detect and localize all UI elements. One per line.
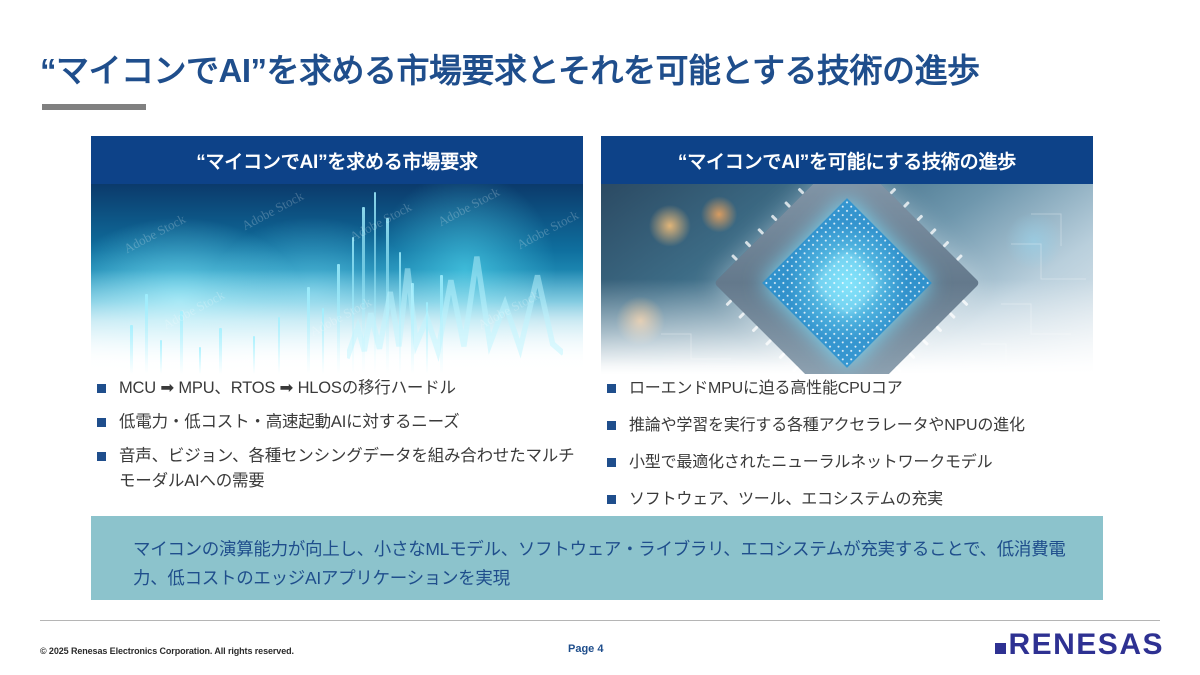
bullet-square-icon xyxy=(607,458,616,467)
bullet-square-icon xyxy=(607,384,616,393)
copyright-text: © 2025 Renesas Electronics Corporation. … xyxy=(40,646,294,656)
list-item-label: 低電力・低コスト・高速起動AIに対するニーズ xyxy=(119,410,459,435)
page-number: Page 4 xyxy=(568,643,603,655)
list-item-label: MCU ➡ MPU、RTOS ➡ HLOSの移行ハードル xyxy=(119,376,456,401)
bullet-list-tech-progress: ローエンドMPUに迫る高性能CPUコア 推論や学習を実行する各種アクセラレータや… xyxy=(607,376,1107,524)
list-item-label: 推論や学習を実行する各種アクセラレータやNPUの進化 xyxy=(629,413,1025,438)
bullet-square-icon xyxy=(607,495,616,504)
footer-divider xyxy=(40,620,1160,621)
summary-text: マイコンの演算能力が向上し、小さなMLモデル、ソフトウェア・ライブラリ、エコシス… xyxy=(133,535,1083,593)
panel-header-market-demand: “マイコンでAI”を求める市場要求 xyxy=(91,136,583,184)
list-item: 推論や学習を実行する各種アクセラレータやNPUの進化 xyxy=(607,413,1107,438)
abstract-data-waveform-image: Adobe Stock Adobe Stock Adobe Stock Adob… xyxy=(91,184,583,374)
panel-tech-progress: “マイコンでAI”を可能にする技術の進歩 xyxy=(601,136,1093,374)
microcontroller-chip-circuit-board-image xyxy=(601,184,1093,374)
list-item-label: 音声、ビジョン、各種センシングデータを組み合わせたマルチモーダルAIへの需要 xyxy=(119,444,587,494)
list-item: 低電力・低コスト・高速起動AIに対するニーズ xyxy=(97,410,587,435)
slide: “マイコンでAI”を求める市場要求とそれを可能とする技術の進歩 “マイコンでAI… xyxy=(0,0,1200,675)
logo-wordmark: RENESAS xyxy=(1008,630,1164,660)
list-item-label: ローエンドMPUに迫る高性能CPUコア xyxy=(629,376,903,401)
list-item: ソフトウェア、ツール、エコシステムの充実 xyxy=(607,487,1107,512)
bullet-square-icon xyxy=(97,418,106,427)
chip-die-center xyxy=(816,252,878,314)
panel-market-demand: “マイコンでAI”を求める市場要求 xyxy=(91,136,583,374)
list-item-label: ソフトウェア、ツール、エコシステムの充実 xyxy=(629,487,943,512)
bullet-list-market-demand: MCU ➡ MPU、RTOS ➡ HLOSの移行ハードル 低電力・低コスト・高速… xyxy=(97,376,587,503)
title-underline-rule xyxy=(42,104,146,110)
list-item: ローエンドMPUに迫る高性能CPUコア xyxy=(607,376,1107,401)
logo-square-icon xyxy=(995,643,1006,654)
bullet-square-icon xyxy=(97,384,106,393)
list-item: MCU ➡ MPU、RTOS ➡ HLOSの移行ハードル xyxy=(97,376,587,401)
list-item-label: 小型で最適化されたニューラルネットワークモデル xyxy=(629,450,992,475)
bullet-square-icon xyxy=(607,421,616,430)
panel-header-tech-progress: “マイコンでAI”を可能にする技術の進歩 xyxy=(601,136,1093,184)
list-item: 音声、ビジョン、各種センシングデータを組み合わせたマルチモーダルAIへの需要 xyxy=(97,444,587,494)
list-item: 小型で最適化されたニューラルネットワークモデル xyxy=(607,450,1107,475)
bullet-square-icon xyxy=(97,452,106,461)
page-title: “マイコンでAI”を求める市場要求とそれを可能とする技術の進歩 xyxy=(40,48,1175,94)
summary-callout-box: マイコンの演算能力が向上し、小さなMLモデル、ソフトウェア・ライブラリ、エコシス… xyxy=(91,516,1103,600)
renesas-logo: RENESAS xyxy=(995,630,1164,660)
